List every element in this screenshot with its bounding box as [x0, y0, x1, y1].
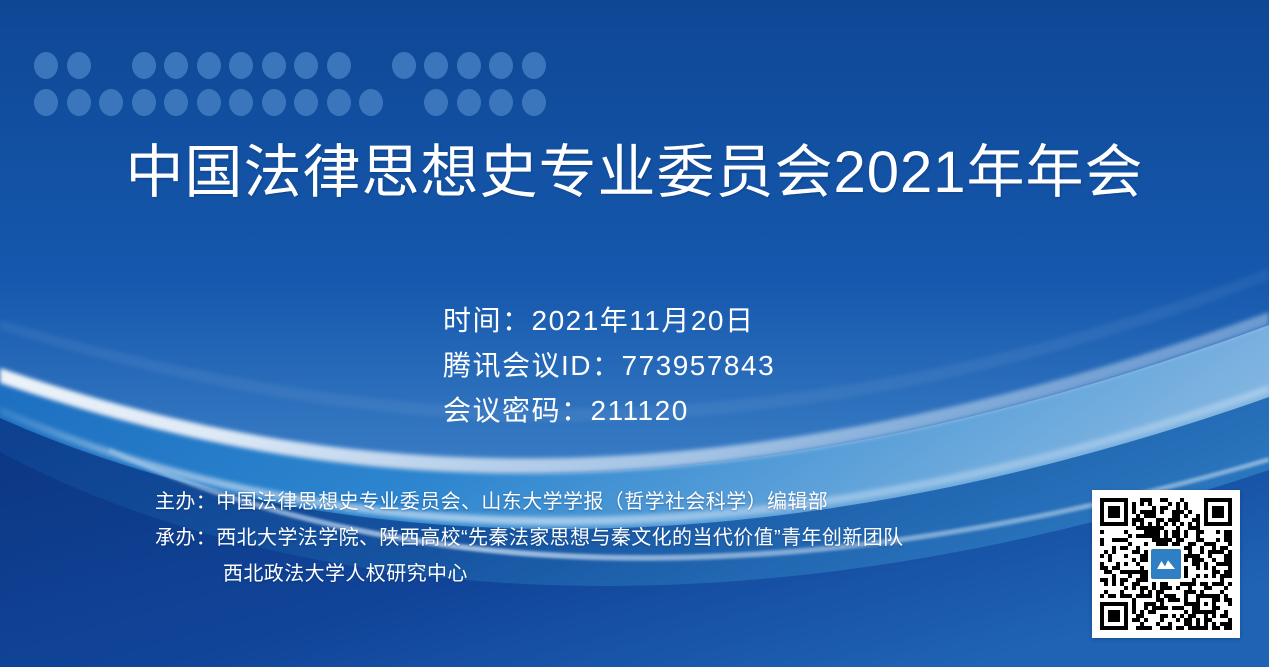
decoration-dot	[229, 52, 253, 79]
decoration-dot	[34, 89, 58, 116]
mountain-logo-icon	[1149, 547, 1183, 581]
decoration-dot	[327, 89, 351, 116]
meeting-date-line: 时间：2021年11月20日	[443, 298, 775, 343]
co-organizer-line-2: 西北政法大学人权研究中心	[155, 556, 904, 592]
decoration-dot	[67, 89, 91, 116]
decoration-dot	[164, 89, 188, 116]
decoration-dot	[522, 52, 546, 79]
organizers-block: 主办：中国法律思想史专业委员会、山东大学学报（哲学社会科学）编辑部 承办：西北大…	[155, 484, 904, 592]
decoration-dot	[99, 89, 123, 116]
decoration-dot	[132, 89, 156, 116]
decoration-dot	[489, 89, 513, 116]
decoration-dot	[424, 52, 448, 79]
page-title: 中国法律思想史专业委员会2021年年会	[0, 138, 1269, 208]
decoration-dot	[262, 52, 286, 79]
co-organizer-line: 承办：西北大学法学院、陕西高校“先秦法家思想与秦文化的当代价值”青年创新团队	[155, 520, 904, 556]
decoration-dot	[34, 52, 58, 79]
decoration-dot	[489, 52, 513, 79]
decoration-dot	[197, 52, 221, 79]
presentation-slide: 中国法律思想史专业委员会2021年年会 时间：2021年11月20日 腾讯会议I…	[0, 0, 1269, 667]
meeting-id-line: 腾讯会议ID：773957843	[443, 343, 775, 388]
decoration-dot	[457, 89, 481, 116]
qr-code[interactable]	[1092, 490, 1240, 638]
decoration-dot	[359, 89, 383, 116]
meeting-info-block: 时间：2021年11月20日 腾讯会议ID：773957843 会议密码：211…	[443, 298, 775, 433]
decoration-dot	[457, 52, 481, 79]
decoration-dot	[132, 52, 156, 79]
meeting-password-line: 会议密码：211120	[443, 388, 775, 433]
decoration-dot	[522, 89, 546, 116]
dot-grid-decoration	[34, 52, 554, 118]
decoration-dot	[327, 52, 351, 79]
decoration-dot	[229, 89, 253, 116]
decoration-dot	[392, 52, 416, 79]
decoration-dot	[294, 89, 318, 116]
decoration-dot	[294, 52, 318, 79]
decoration-dot	[197, 89, 221, 116]
decoration-dot	[164, 52, 188, 79]
host-line: 主办：中国法律思想史专业委员会、山东大学学报（哲学社会科学）编辑部	[155, 484, 904, 520]
decoration-dot	[67, 52, 91, 79]
decoration-dot	[424, 89, 448, 116]
decoration-dot	[262, 89, 286, 116]
